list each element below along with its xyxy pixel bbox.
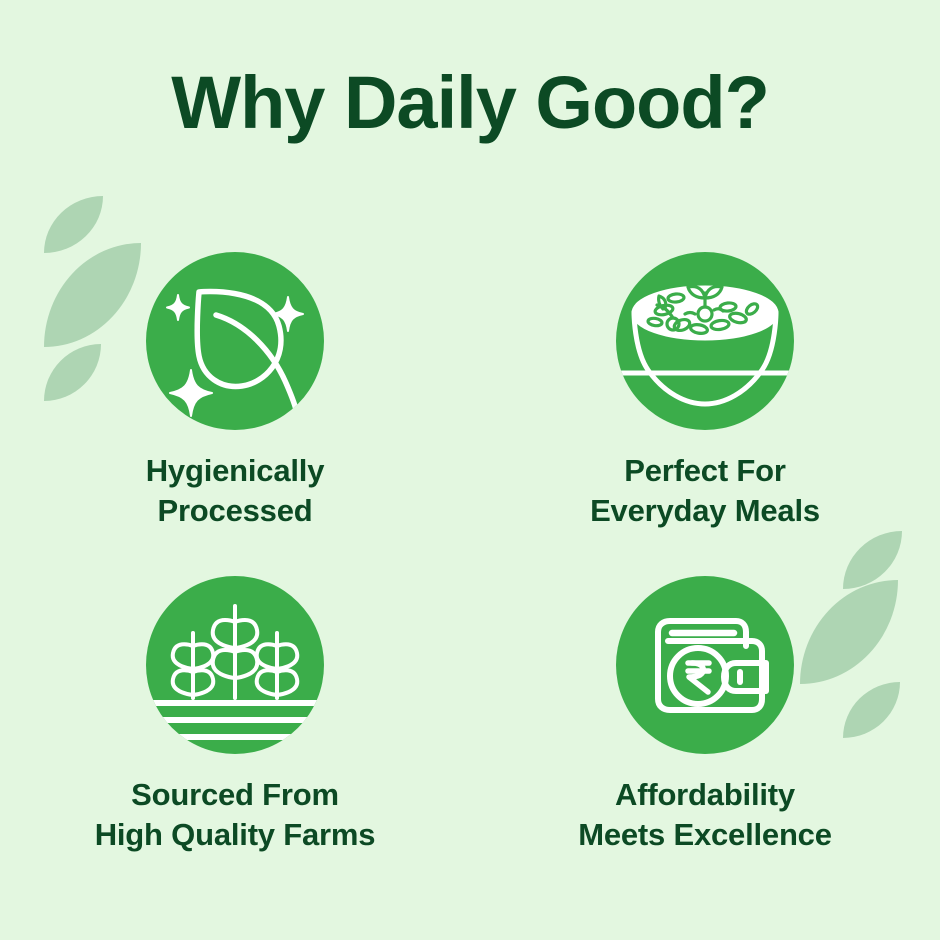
feature-icon-badge [616,576,794,754]
feature-label: Affordability Meets Excellence [578,775,832,854]
sparkle-leaf-icon [146,252,324,430]
feature-perfect-for-everyday-meals: Perfect For Everyday Meals [470,252,940,576]
feature-icon-badge [616,252,794,430]
feature-hygienically-processed: Hygienically Processed [0,252,470,576]
feature-label: Sourced From High Quality Farms [95,775,376,854]
soup-bowl-icon [616,252,794,430]
feature-sourced-from-high-quality-farms: Sourced From High Quality Farms [0,576,470,900]
page-title: Why Daily Good? [0,66,940,140]
poster-canvas: Why Daily Good? Hy [0,0,940,940]
feature-label: Hygienically Processed [146,451,325,530]
crop-field-icon [146,576,324,754]
rupee-wallet-icon [616,576,794,754]
feature-icon-badge [146,252,324,430]
feature-label: Perfect For Everyday Meals [590,451,820,530]
feature-icon-badge [146,576,324,754]
decorative-leaf-small-top [44,196,103,253]
feature-grid: Hygienically Processed [0,252,940,900]
feature-affordability-meets-excellence: Affordability Meets Excellence [470,576,940,900]
